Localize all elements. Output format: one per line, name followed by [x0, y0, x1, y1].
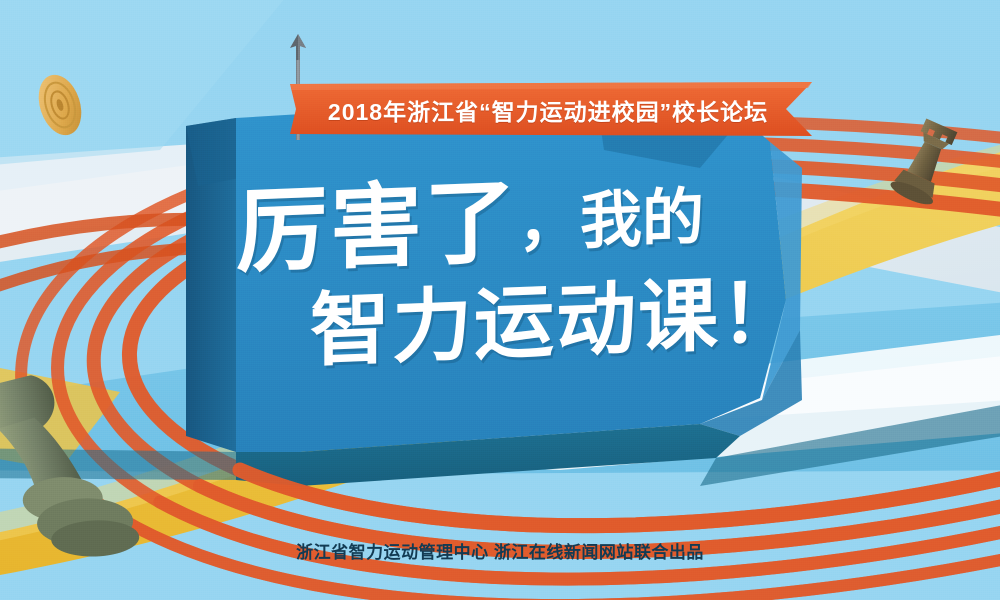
arrow-finial-icon: [288, 34, 308, 60]
footer-credit: 浙江省智力运动管理中心 浙江在线新闻网站联合出品: [0, 538, 1000, 563]
ribbon-banner: 2018年浙江省“智力运动进校园”校长论坛: [288, 82, 848, 138]
poster-canvas: 2018年浙江省“智力运动进校园”校长论坛 厉害了，我的 智力运动课！: [0, 0, 1000, 600]
ribbon-title-text: 2018年浙江省“智力运动进校园”校长论坛: [288, 82, 808, 138]
